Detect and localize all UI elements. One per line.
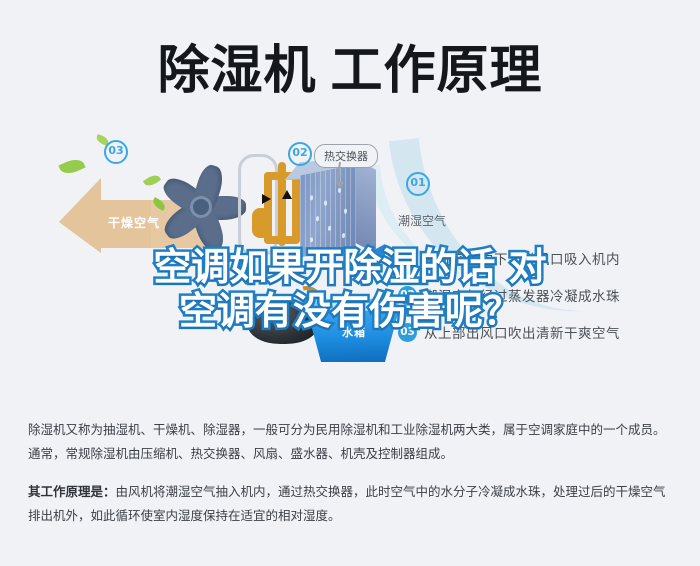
legend-text-01: 潮湿空气由下部进风口吸入机内 [424,248,620,268]
title-part-2: 工作原理 [331,45,543,97]
badge-03-diagram: 03 [104,140,128,164]
legend-text-02: 潮湿空气经过蒸发器冷凝成水珠 [424,285,620,305]
heat-exchanger-icon [300,160,378,258]
legend-list: 01 潮湿空气由下部进风口吸入机内 02 潮湿空气经过蒸发器冷凝成水珠 03 从… [398,248,694,359]
dehumidifier-diagram: 03 干燥空气 [0,118,700,398]
article-paragraph-2: 其工作原理是：由风机将潮湿空气抽入机内，通过热交换器，此时空气中的水分子冷凝成水… [28,480,676,528]
water-tank-icon: 水箱 [300,294,408,364]
heat-exchanger-callout: 热交换器 [314,144,378,168]
callout-tip-icon [336,182,344,189]
article-body: 除湿机又称为抽湿机、干燥机、除湿器，一般可分为民用除湿机和工业除湿机两大类，属于… [28,418,676,542]
legend-item-01: 01 潮湿空气由下部进风口吸入机内 [398,248,694,268]
badge-02-diagram: 02 [288,142,312,166]
legend-text-03: 从上部出风口吹出清新干爽空气 [424,322,620,342]
legend-badge-03: 03 [398,323,417,342]
legend-item-02: 02 潮湿空气经过蒸发器冷凝成水珠 [398,285,694,305]
article-paragraph-2-text: 由风机将潮湿空气抽入机内，通过热交换器，此时空气中的水分子冷凝成水珠，处理过后的… [28,484,666,523]
page-title: 除湿机 工作原理 [0,28,700,114]
legend-badge-01: 01 [398,249,417,268]
legend-badge-02: 02 [398,286,417,305]
infographic-page: 除湿机 工作原理 03 干燥空气 [0,0,700,566]
label-moist-air: 潮湿空气 [398,212,446,229]
legend-item-03: 03 从上部出风口吹出清新干爽空气 [398,322,694,342]
article-paragraph-1: 除湿机又称为抽湿机、干燥机、除湿器，一般可分为民用除湿机和工业除湿机两大类，属于… [28,418,676,466]
label-water-tank: 水箱 [300,324,408,340]
badge-01-diagram: 01 [406,172,430,196]
article-paragraph-2-lead: 其工作原理是： [28,484,116,499]
title-part-1: 除湿机 [157,45,316,97]
